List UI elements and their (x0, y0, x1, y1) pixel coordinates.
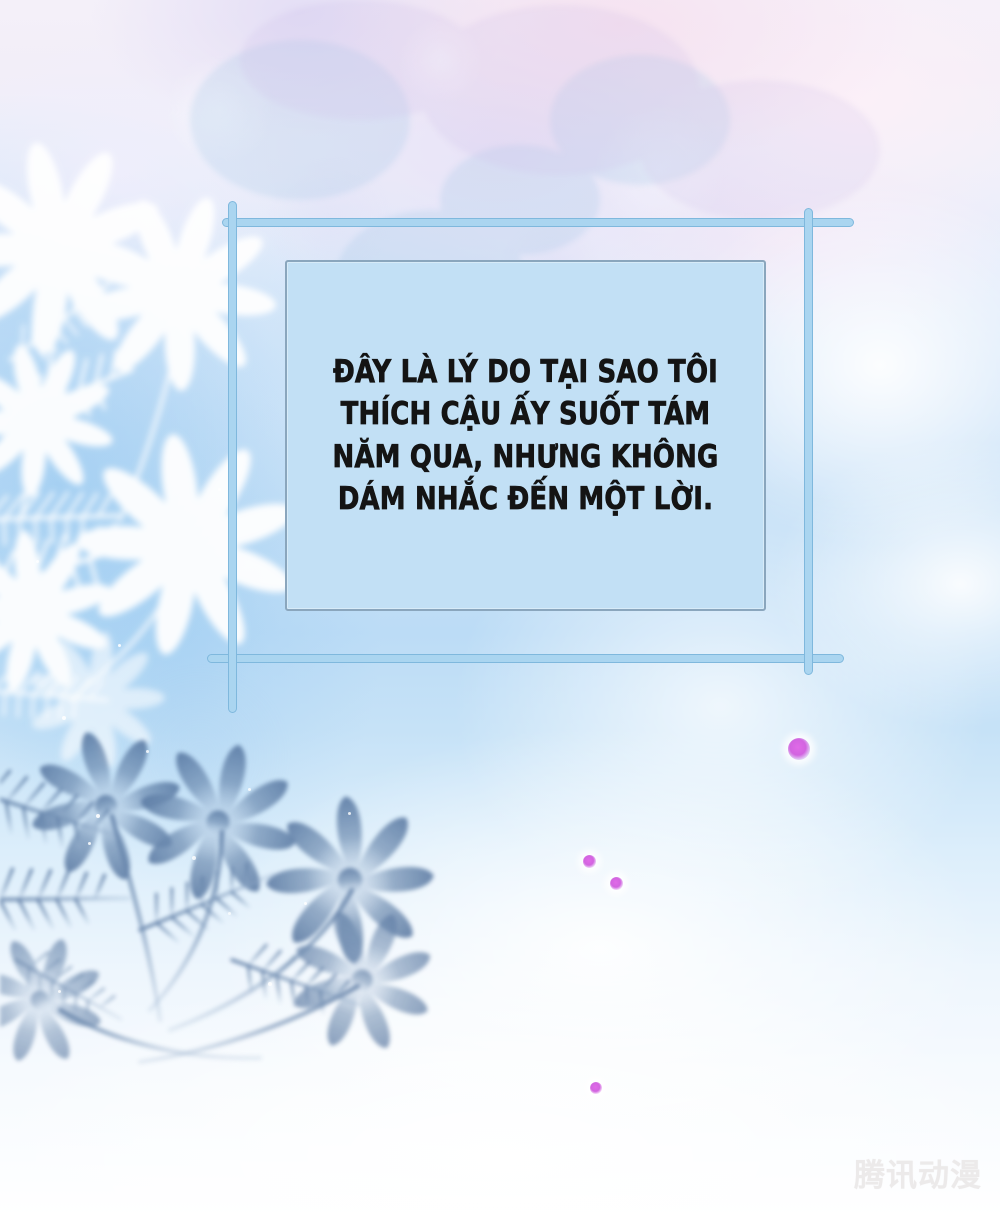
petal-dot-icon (590, 1082, 602, 1094)
sparkle-icon (118, 644, 121, 647)
sparkle-icon (96, 814, 100, 818)
watermark: 腾讯动漫 (854, 1150, 982, 1195)
sparkle-icon (218, 488, 221, 491)
sparkle-icon (228, 912, 231, 915)
petal-dot-icon (610, 877, 623, 890)
frame-line-top (222, 218, 854, 227)
comic-page: ĐÂY LÀ LÝ DO TẠI SAO TÔI THÍCH CẬU ẤY SU… (0, 0, 1000, 1217)
sparkle-icon (304, 902, 307, 905)
sparkle-icon (268, 982, 272, 986)
sparkle-icon (146, 750, 149, 753)
frame-line-left (228, 201, 237, 713)
sparkle-icon (58, 990, 61, 993)
frame-line-right (804, 208, 813, 675)
sparkle-icon (248, 788, 251, 791)
petal-dot-icon (788, 738, 810, 760)
petal-dot-icon (583, 855, 596, 868)
sparkle-icon (88, 842, 91, 845)
sparkle-icon (348, 812, 351, 815)
sparkle-icon (36, 560, 39, 563)
frame-line-bottom (207, 654, 844, 663)
sparkle-icon (192, 856, 196, 860)
dialogue-text: ĐÂY LÀ LÝ DO TẠI SAO TÔI THÍCH CẬU ẤY SU… (304, 351, 748, 520)
dialogue-panel: ĐÂY LÀ LÝ DO TẠI SAO TÔI THÍCH CẬU ẤY SU… (285, 260, 766, 611)
sparkle-icon (62, 716, 66, 720)
